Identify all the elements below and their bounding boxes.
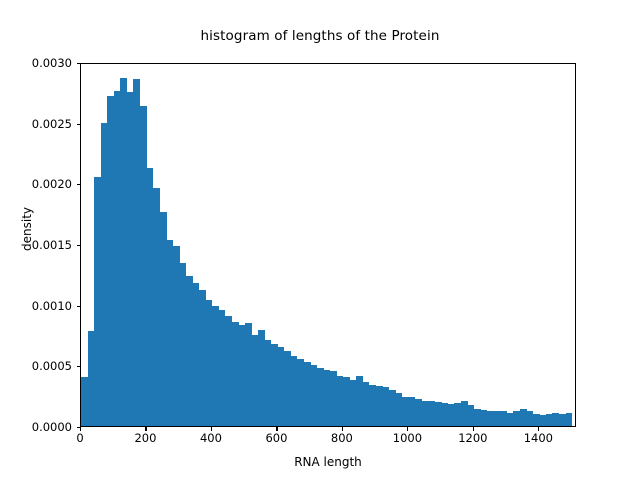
x-axis-tick-label: 200 bbox=[110, 431, 180, 445]
plot-area bbox=[80, 63, 576, 427]
y-axis-tick-label: 0.0005 bbox=[8, 359, 72, 373]
histogram-bar bbox=[566, 413, 573, 426]
x-axis-tick-label: 1000 bbox=[372, 431, 442, 445]
x-axis-tick-label: 1200 bbox=[438, 431, 508, 445]
histogram-bars bbox=[81, 64, 575, 426]
x-axis-tick-label: 1400 bbox=[503, 431, 573, 445]
x-axis-tick-label: 600 bbox=[241, 431, 311, 445]
x-axis-tick-mark bbox=[538, 427, 539, 431]
x-axis-tick-label: 0 bbox=[45, 431, 115, 445]
x-axis-label: RNA length bbox=[80, 455, 576, 469]
x-axis-tick-mark bbox=[80, 427, 81, 431]
y-axis-tick-label: 0.0030 bbox=[8, 56, 72, 70]
y-axis-tick-label: 0.0020 bbox=[8, 177, 72, 191]
x-axis-tick-mark bbox=[145, 427, 146, 431]
x-axis-tick-mark bbox=[276, 427, 277, 431]
chart-title: histogram of lengths of the Protein bbox=[0, 28, 640, 44]
x-axis-tick-mark bbox=[211, 427, 212, 431]
histogram-figure: histogram of lengths of the Protein dens… bbox=[0, 0, 640, 480]
x-axis-tick-label: 800 bbox=[307, 431, 377, 445]
y-axis-tick-label: 0.0025 bbox=[8, 117, 72, 131]
y-axis-tick-label: 0.0010 bbox=[8, 299, 72, 313]
x-axis-tick-label: 400 bbox=[176, 431, 246, 445]
y-axis-tick-label: 0.0015 bbox=[8, 238, 72, 252]
x-axis-tick-mark bbox=[473, 427, 474, 431]
x-axis-tick-mark bbox=[407, 427, 408, 431]
x-axis-tick-mark bbox=[342, 427, 343, 431]
